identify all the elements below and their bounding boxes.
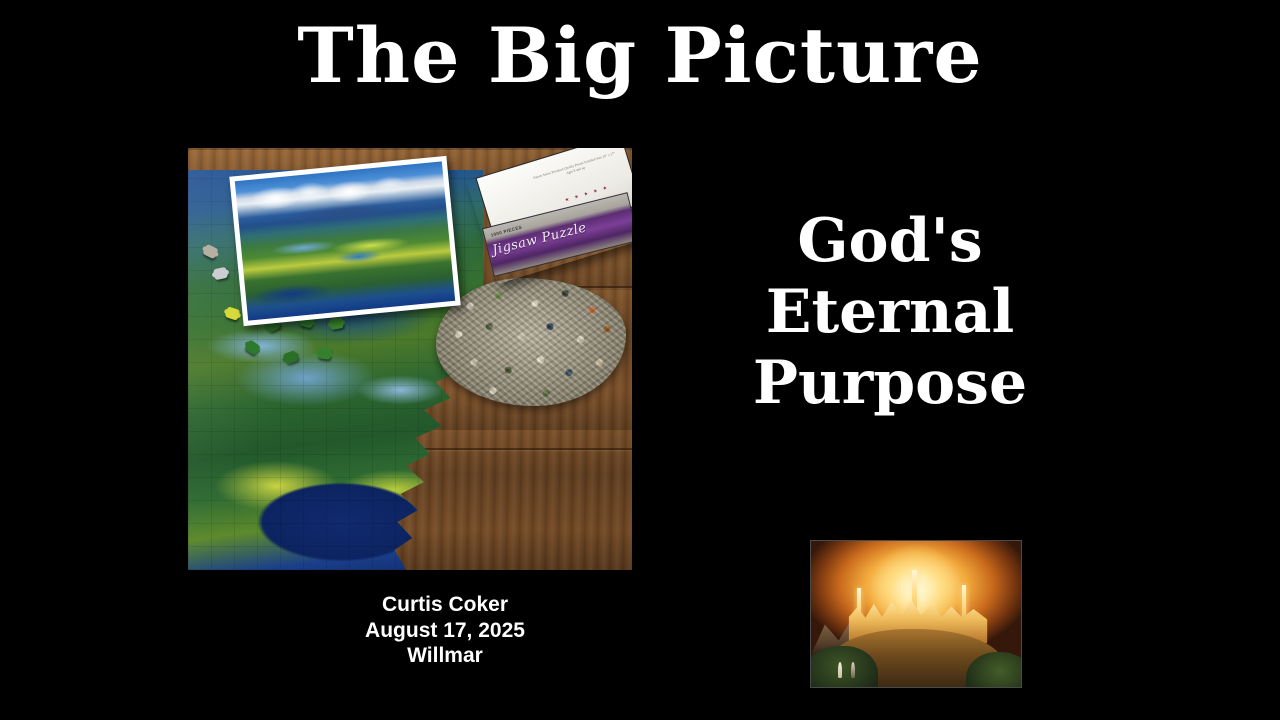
reference-photo — [229, 156, 460, 326]
puzzle-box-lid-text: Nature Series Premium Quality Puzzle Fin… — [532, 151, 617, 186]
clouds — [244, 171, 437, 212]
reference-photo-image — [235, 161, 455, 320]
presentation-date: August 17, 2025 — [260, 618, 630, 644]
presentation-slide: The Big Picture Nature Series Premium Qu… — [0, 0, 1280, 720]
subtitle-line-3: Purpose — [640, 348, 1140, 419]
subtitle-line-2: Eternal — [640, 277, 1140, 348]
loose-puzzle-piece — [317, 347, 331, 360]
slide-subtitle: God's Eternal Purpose — [640, 206, 1140, 418]
presenter-credits: Curtis Coker August 17, 2025 Willmar — [260, 592, 630, 669]
loose-puzzle-piece — [329, 317, 344, 330]
puzzle-photo: Nature Series Premium Quality Puzzle Fin… — [188, 148, 632, 570]
presenter-name: Curtis Coker — [260, 592, 630, 618]
piece-heap-texture — [436, 278, 626, 406]
heavenly-city-image — [810, 540, 1022, 688]
puzzle-box-title-label: Jigsaw Puzzle — [491, 220, 588, 258]
puzzle-box-pieces-label: 1000 PIECES — [490, 225, 522, 238]
walking-figure — [851, 662, 855, 678]
subtitle-line-1: God's — [640, 206, 1140, 277]
puzzle-piece-heap — [436, 278, 626, 406]
presentation-location: Willmar — [260, 643, 630, 669]
page-title: The Big Picture — [0, 16, 1280, 96]
